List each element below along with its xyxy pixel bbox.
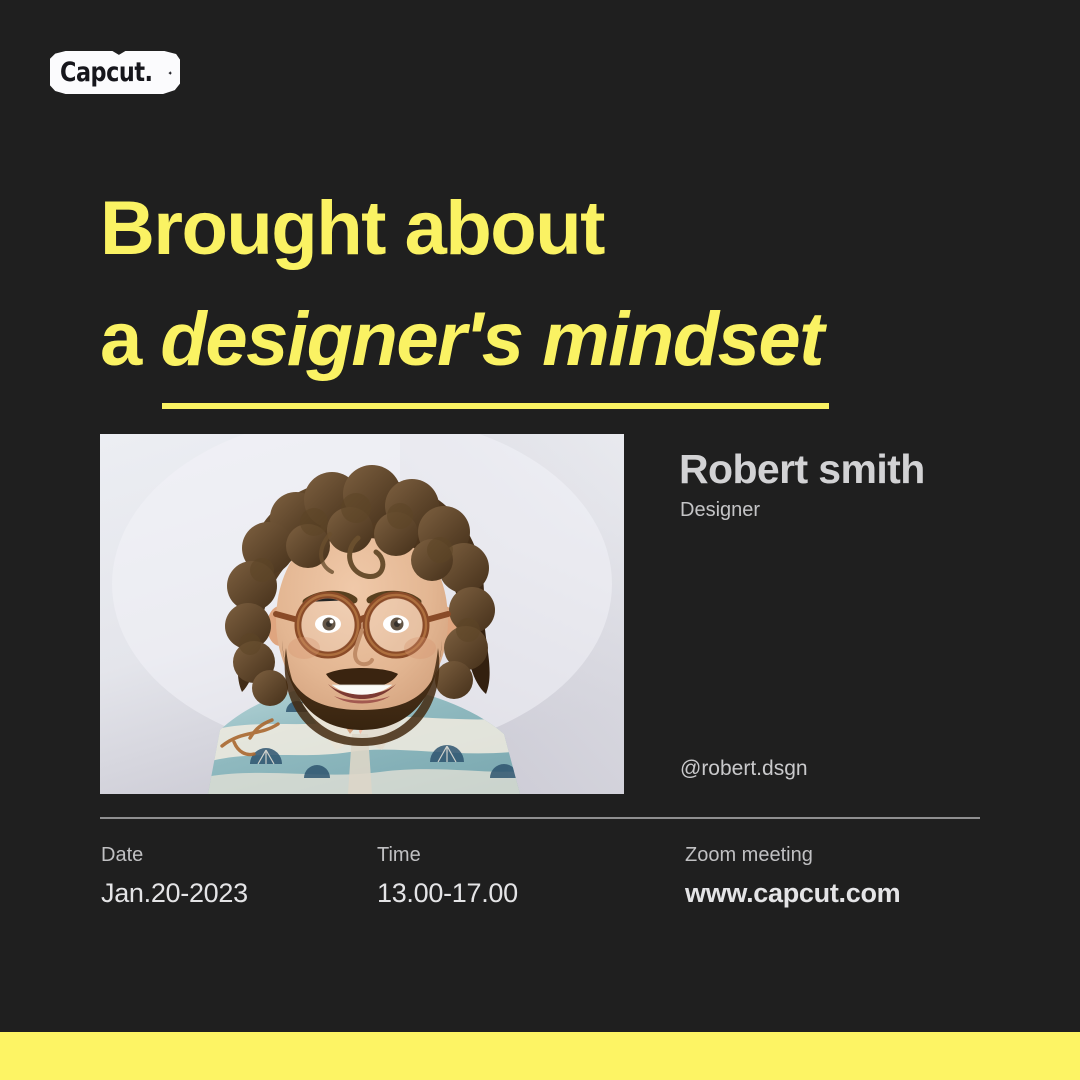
page-title: Brought about a designer's mindset xyxy=(100,173,823,395)
info-label-zoom-meeting: Zoom meeting xyxy=(685,843,900,867)
bottom-accent-bar xyxy=(0,1032,1080,1080)
event-poster: Capcut. Brought about a designer's minds… xyxy=(0,0,1080,1080)
speaker-handle: @robert.dsgn xyxy=(680,756,808,781)
headline-emphasis: designer's mindset xyxy=(160,284,823,395)
capcut-logo-badge[interactable]: Capcut. xyxy=(50,51,180,94)
section-divider xyxy=(100,817,980,819)
headline-line-2: a designer's mindset xyxy=(100,284,823,395)
info-column-time: Time 13.00-17.00 xyxy=(377,843,518,909)
info-value-time: 13.00-17.00 xyxy=(377,877,518,909)
capcut-logo-text: Capcut. xyxy=(60,59,153,86)
info-column-date: Date Jan.20-2023 xyxy=(101,843,248,909)
info-column-zoom-meeting: Zoom meeting www.capcut.com xyxy=(685,843,900,909)
info-value-zoom-meeting-url[interactable]: www.capcut.com xyxy=(685,877,900,909)
speaker-name: Robert smith xyxy=(679,447,925,492)
info-value-date: Jan.20-2023 xyxy=(101,877,248,909)
sparkle-star-icon xyxy=(168,62,172,84)
headline-line-1: Brought about xyxy=(100,186,604,271)
speaker-portrait-illustration xyxy=(100,434,624,794)
headline-line-2-prefix: a xyxy=(100,297,160,382)
info-label-date: Date xyxy=(101,843,248,867)
info-label-time: Time xyxy=(377,843,518,867)
speaker-photo xyxy=(100,434,624,794)
speaker-role: Designer xyxy=(680,498,760,522)
